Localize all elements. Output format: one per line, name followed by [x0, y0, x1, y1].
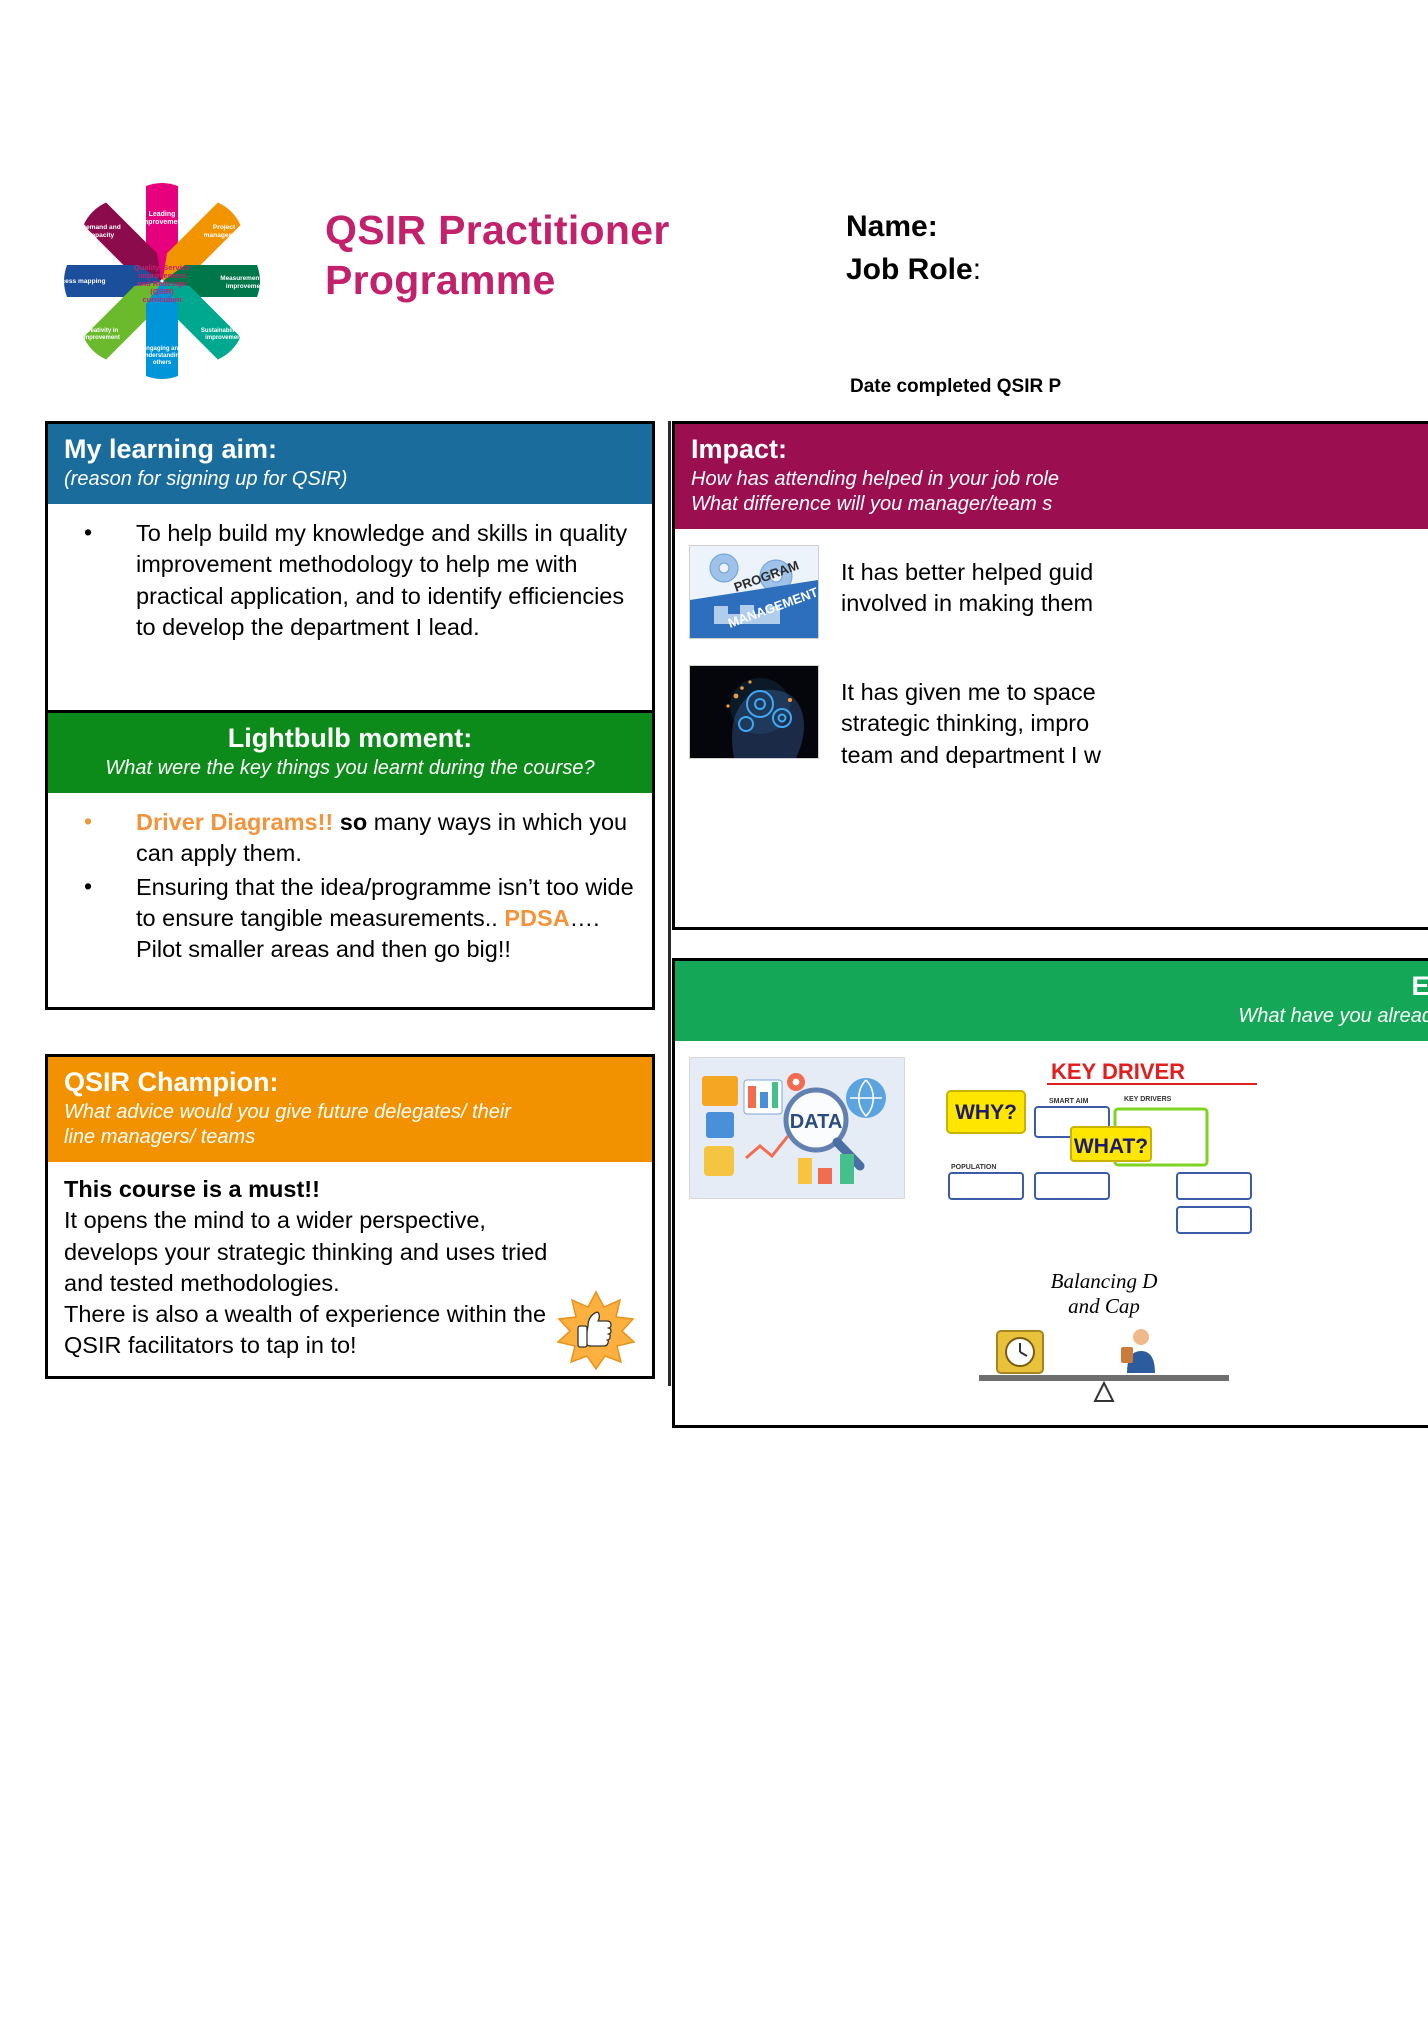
name-block: Name: Job Role: [846, 206, 981, 291]
svg-text:capacity: capacity [88, 232, 115, 239]
svg-text:curriculum: curriculum [142, 295, 181, 304]
learning-aim-title: My learning aim: [64, 434, 636, 465]
svg-text:WHAT?: WHAT? [1074, 1135, 1148, 1158]
right-column: Impact: How has attending helped in your… [672, 421, 1428, 1428]
impact-item-1-text: It has better helped guid involved in ma… [841, 545, 1093, 620]
impact-body: PROGRAM MANAGEMENT It has better helped … [675, 529, 1428, 927]
date-completed-label: Date completed QSIR P [850, 376, 1061, 398]
poster-page: Leading improvement Demand and capacity … [0, 0, 1428, 2018]
impact-subtitle-line1: How has attending helped in your job rol… [691, 467, 1428, 492]
lightbulb-card: Lightbulb moment: What were the key thin… [45, 713, 655, 1010]
impact-item-2-line1: It has given me to space [841, 677, 1101, 708]
name-label: Name: [846, 206, 981, 249]
page-title: QSIR Practitioner Programme [325, 205, 755, 305]
svg-text:WHY?: WHY? [955, 1101, 1017, 1124]
learning-aim-band: My learning aim: (reason for signing up … [48, 424, 652, 504]
impact-item-1-line2: involved in making them [841, 588, 1093, 619]
impact-item-2-text: It has given me to space strategic think… [841, 665, 1101, 771]
svg-text:Leading: Leading [149, 211, 176, 218]
lightbulb-subtitle: What were the key things you learnt duri… [64, 756, 636, 781]
champion-card: QSIR Champion: What advice would you giv… [45, 1054, 655, 1379]
key-driver-diagram-block: KEY DRIVER KEY DRIVERS WHY? SMART AIM WH… [939, 1057, 1269, 1411]
impact-item-2-line2: strategic thinking, impro [841, 708, 1101, 739]
impact-subtitle-line2: What difference will you manager/team s [691, 492, 1428, 517]
list-item: Driver Diagrams!! so many ways in which … [62, 807, 638, 870]
balancing-demand-caption: Balancing D and Cap [939, 1269, 1269, 1319]
svg-text:improvement: improvement [205, 335, 243, 341]
champion-title: QSIR Champion: [64, 1067, 636, 1098]
champion-line-4: There is also a wealth of experience wit… [64, 1299, 636, 1330]
balance-scales-clock-person-icon [979, 1325, 1229, 1411]
svg-text:Demand and: Demand and [81, 224, 121, 231]
svg-text:DATA: DATA [790, 1111, 843, 1133]
impact-band: Impact: How has attending helped in your… [675, 424, 1428, 529]
column-divider [668, 421, 671, 1386]
early-application-card: Early app What have you already used? (p… [672, 958, 1428, 1428]
learning-aim-bullets: To help build my knowledge and skills in… [62, 518, 638, 643]
svg-text:improvement: improvement [140, 219, 185, 226]
early-application-title: Early app [691, 971, 1428, 1002]
thumbs-up-starburst-icon [554, 1290, 638, 1370]
svg-text:KEY DRIVER: KEY DRIVER [1051, 1059, 1185, 1084]
job-role-row: Job Role: [846, 249, 981, 292]
impact-item-2-line3: team and department I w [841, 740, 1101, 771]
lightbulb-body: Driver Diagrams!! so many ways in which … [48, 793, 652, 1007]
svg-text:Creativity in: Creativity in [84, 328, 119, 334]
brain-gears-head-image [689, 665, 819, 759]
flower-logo-svg: Leading improvement Demand and capacity … [38, 182, 286, 380]
so-bold: so [340, 809, 367, 835]
lightbulb-title: Lightbulb moment: [64, 723, 636, 754]
svg-text:others: others [153, 360, 172, 366]
svg-text:Measurement for: Measurement for [220, 275, 272, 282]
list-item: Ensuring that the idea/programme isn’t t… [62, 872, 638, 966]
champion-lead: This course is a must!! [64, 1174, 636, 1205]
svg-text:Sustainability of: Sustainability of [201, 328, 248, 334]
champion-line-1: It opens the mind to a wider perspective… [64, 1205, 636, 1236]
champion-line-2: develops your strategic thinking and use… [64, 1237, 636, 1268]
poster-header: Leading improvement Demand and capacity … [0, 0, 1428, 420]
svg-text:management: management [204, 232, 245, 239]
key-driver-diagram-illustration: KEY DRIVER KEY DRIVERS WHY? SMART AIM WH… [939, 1057, 1269, 1257]
balancing-caption-line2: and Cap [939, 1294, 1269, 1319]
left-column: My learning aim: (reason for signing up … [45, 421, 655, 1379]
champion-line-3: and tested methodologies. [64, 1268, 636, 1299]
svg-text:improvement: improvement [226, 283, 267, 290]
svg-text:Project: Project [213, 224, 236, 231]
impact-item-2: It has given me to space strategic think… [689, 665, 1428, 771]
data-analytics-illustration: DATA [689, 1057, 905, 1199]
list-item: To help build my knowledge and skills in… [62, 518, 638, 643]
impact-item-1: PROGRAM MANAGEMENT It has better helped … [689, 545, 1428, 639]
champion-subtitle-line2: line managers/ teams [64, 1125, 636, 1150]
early-application-images: DATA [689, 1057, 1428, 1411]
lightbulb-band: Lightbulb moment: What were the key thin… [48, 713, 652, 793]
svg-text:POPULATION: POPULATION [951, 1164, 996, 1171]
impact-title: Impact: [691, 434, 1428, 465]
champion-subtitle-line1: What advice would you give future delega… [64, 1100, 636, 1125]
driver-diagrams-highlight: Driver Diagrams!! [136, 809, 333, 835]
champion-line-5: QSIR facilitators to tap in to! [64, 1330, 636, 1361]
learning-aim-card: My learning aim: (reason for signing up … [45, 421, 655, 713]
early-application-body: DATA [675, 1041, 1428, 1425]
qsir-curriculum-flower-logo: Leading improvement Demand and capacity … [38, 182, 286, 380]
svg-text:KEY DRIVERS: KEY DRIVERS [1124, 1096, 1172, 1103]
early-application-band: Early app What have you already used? (p… [675, 961, 1428, 1041]
svg-text:improvement: improvement [82, 335, 120, 341]
learning-aim-body: To help build my knowledge and skills in… [48, 504, 652, 710]
champion-band: QSIR Champion: What advice would you giv… [48, 1057, 652, 1162]
lightbulb-bullets: Driver Diagrams!! so many ways in which … [62, 807, 638, 965]
svg-text:Process mapping: Process mapping [51, 278, 106, 285]
svg-text:SMART AIM: SMART AIM [1049, 1098, 1089, 1105]
impact-card: Impact: How has attending helped in your… [672, 421, 1428, 930]
balancing-caption-line1: Balancing D [939, 1269, 1269, 1294]
job-role-colon: : [973, 253, 981, 286]
job-role-label: Job Role [846, 253, 973, 286]
pdsa-highlight: PDSA [504, 905, 569, 931]
svg-text:understanding: understanding [141, 353, 183, 359]
impact-item-1-line1: It has better helped guid [841, 557, 1093, 588]
early-application-subtitle: What have you already used? (pr [691, 1004, 1428, 1029]
program-management-gears-image: PROGRAM MANAGEMENT [689, 545, 819, 639]
learning-aim-subtitle: (reason for signing up for QSIR) [64, 467, 636, 492]
champion-body: This course is a must!! It opens the min… [48, 1162, 652, 1376]
svg-text:Engaging and: Engaging and [142, 346, 182, 352]
